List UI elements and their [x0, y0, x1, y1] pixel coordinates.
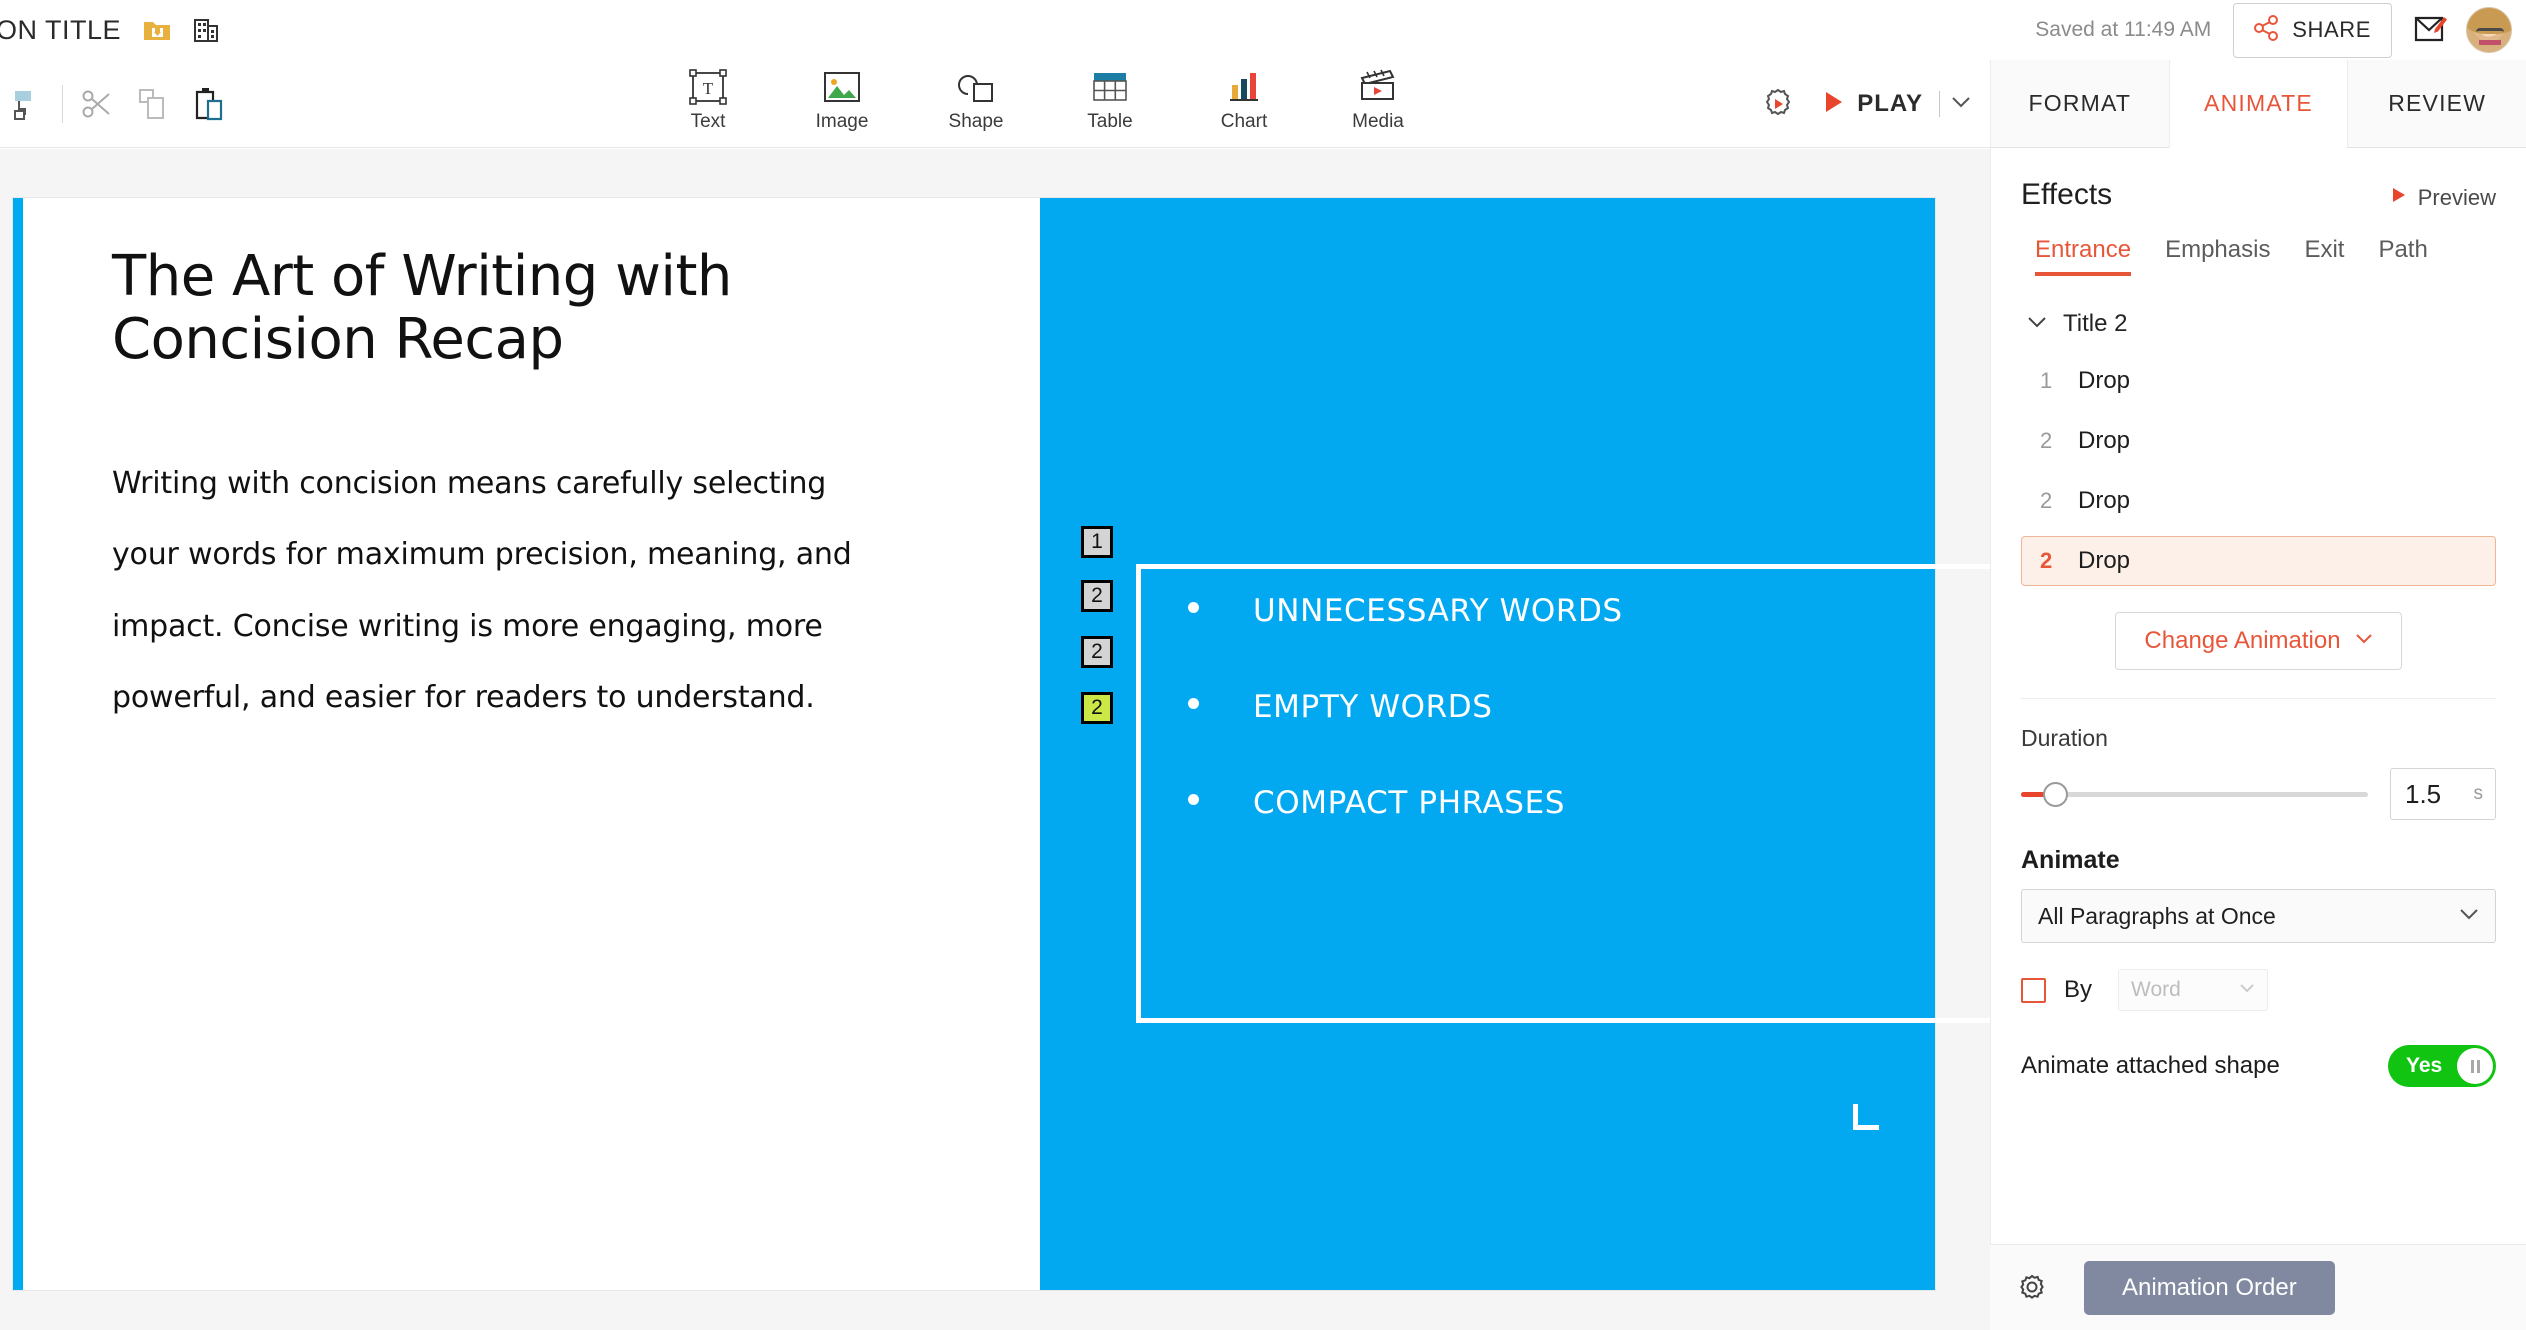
effect-name: Drop	[2078, 427, 2130, 455]
change-animation-label: Change Animation	[2144, 627, 2340, 655]
toolbar-divider	[62, 85, 63, 123]
tab-entrance[interactable]: Entrance	[2035, 236, 2131, 276]
effect-order-number: 2	[2040, 548, 2054, 574]
play-triangle-icon	[2391, 186, 2407, 209]
share-nodes-icon	[2254, 15, 2280, 46]
change-animation-wrap: Change Animation	[1991, 596, 2526, 670]
insert-media-button[interactable]: Media	[1330, 66, 1426, 133]
effect-order-number: 2	[2040, 488, 2054, 514]
insert-chart-button[interactable]: Chart	[1196, 66, 1292, 133]
effect-order-number: 1	[2040, 368, 2054, 394]
animate-mode-value: All Paragraphs at Once	[2038, 903, 2276, 930]
slide-accent-bar	[13, 198, 23, 1290]
bar-chart-icon	[1224, 66, 1264, 108]
toggle-knob	[2457, 1048, 2493, 1084]
paste-format-icon[interactable]	[0, 60, 56, 148]
effect-name: Drop	[2078, 547, 2130, 575]
paste-icon[interactable]	[181, 60, 237, 148]
chevron-down-icon[interactable]	[1940, 94, 1990, 115]
effect-item-selected[interactable]: 2 Drop	[2021, 536, 2496, 586]
effect-type-tabs: Entrance Emphasis Exit Path	[1991, 212, 2526, 276]
folder-download-icon[interactable]	[143, 18, 171, 42]
animation-badge[interactable]: 2	[1081, 580, 1113, 612]
svg-text:T: T	[703, 79, 714, 98]
panel-footer: Animation Order	[1990, 1244, 2526, 1330]
insert-text-label: Text	[691, 111, 726, 133]
tab-format[interactable]: FORMAT	[1990, 60, 2169, 148]
share-button[interactable]: SHARE	[2233, 3, 2392, 58]
effect-order-number: 2	[2040, 428, 2054, 454]
animate-by-row: By Word	[1991, 943, 2526, 1011]
gear-icon[interactable]	[2016, 1272, 2048, 1304]
animate-by-checkbox[interactable]	[2021, 978, 2046, 1003]
effects-title: Effects	[2021, 178, 2112, 212]
animate-attached-shape-label: Animate attached shape	[2021, 1052, 2280, 1080]
cut-icon[interactable]	[69, 60, 125, 148]
bullet-label: EMPTY WORDS	[1253, 689, 1493, 725]
table-icon	[1090, 66, 1130, 108]
play-triangle-icon	[1823, 90, 1845, 119]
document-title[interactable]: ION TITLE	[0, 15, 121, 46]
animation-badge[interactable]: 1	[1081, 526, 1113, 558]
bullet-label: COMPACT PHRASES	[1253, 785, 1565, 821]
animate-side-panel: Effects Preview Entrance Emphasis Exit P…	[1990, 148, 2526, 1330]
shape-icon	[955, 66, 997, 108]
slider-thumb[interactable]	[2043, 782, 2068, 807]
tab-path[interactable]: Path	[2378, 236, 2427, 276]
top-header: ION TITLE Saved at 11:49 AM	[0, 0, 2526, 60]
animate-attached-shape-row: Animate attached shape Yes	[1991, 1011, 2526, 1087]
ribbon-right-group: PLAY	[1739, 60, 1990, 148]
chevron-down-icon	[2355, 632, 2373, 650]
preview-button[interactable]: Preview	[2391, 185, 2496, 211]
animate-mode-select[interactable]: All Paragraphs at Once	[2021, 889, 2496, 943]
effect-item[interactable]: 2 Drop	[2021, 416, 2496, 466]
animation-badge[interactable]: 2	[1081, 636, 1113, 668]
knob-bar-icon	[2471, 1060, 2474, 1073]
slide-title[interactable]: The Art of Writing with Concision Recap	[112, 246, 912, 371]
effects-header: Effects Preview	[1991, 148, 2526, 212]
chevron-down-icon[interactable]	[2027, 315, 2047, 334]
animate-by-value: Word	[2131, 978, 2181, 1002]
animate-section-label: Animate	[1991, 820, 2526, 875]
gear-play-icon[interactable]	[1739, 87, 1817, 121]
insert-shape-label: Shape	[949, 111, 1004, 133]
building-icon[interactable]	[193, 17, 219, 43]
duration-input[interactable]: 1.5 s	[2390, 768, 2496, 820]
tab-animate[interactable]: ANIMATE	[2169, 60, 2348, 148]
slide-canvas-area: The Art of Writing with Concision Recap …	[0, 149, 1990, 1330]
effect-group-label: Title 2	[2063, 310, 2127, 338]
insert-tool-group: T Text Image	[660, 60, 1426, 148]
insert-media-label: Media	[1352, 111, 1404, 133]
insert-table-button[interactable]: Table	[1062, 66, 1158, 133]
chevron-down-icon	[2459, 907, 2479, 926]
duration-unit: s	[2474, 783, 2484, 805]
insert-table-label: Table	[1087, 111, 1132, 133]
copy-icon[interactable]	[125, 60, 181, 148]
animate-attached-shape-toggle[interactable]: Yes	[2388, 1045, 2496, 1087]
play-label: PLAY	[1857, 90, 1923, 118]
bullet-dot-icon	[1188, 602, 1199, 613]
bullet-dot-icon	[1188, 794, 1199, 805]
play-button[interactable]: PLAY	[1817, 90, 1933, 119]
chevron-down-icon	[2239, 981, 2255, 999]
duration-value: 1.5	[2405, 779, 2441, 810]
animation-order-button[interactable]: Animation Order	[2084, 1261, 2335, 1315]
effect-item[interactable]: 1 Drop	[2021, 356, 2496, 406]
animate-by-label: By	[2064, 976, 2092, 1004]
share-button-label: SHARE	[2292, 17, 2371, 43]
tab-emphasis[interactable]: Emphasis	[2165, 236, 2270, 276]
preview-label: Preview	[2418, 185, 2496, 211]
bullet-label: UNNECESSARY WORDS	[1253, 593, 1623, 629]
ribbon-toolbar: T Text Image	[0, 60, 1990, 148]
bullet-dot-icon	[1188, 698, 1199, 709]
effect-item[interactable]: 2 Drop	[2021, 476, 2496, 526]
effect-list: 1 Drop 2 Drop 2 Drop 2 Drop	[1991, 338, 2526, 586]
edit-pencil-icon[interactable]	[2414, 15, 2448, 45]
tab-exit[interactable]: Exit	[2304, 236, 2344, 276]
image-icon	[822, 66, 862, 108]
resize-corner-mark[interactable]	[1853, 1104, 1879, 1130]
list-item[interactable]: EMPTY WORDS	[1188, 689, 1948, 729]
slider-track	[2021, 792, 2368, 797]
duration-row: 1.5 s	[1991, 752, 2526, 820]
knob-bar-icon	[2477, 1060, 2480, 1073]
insert-image-label: Image	[816, 111, 869, 133]
avatar[interactable]	[2466, 7, 2512, 53]
saved-status: Saved at 11:49 AM	[2035, 18, 2211, 42]
effect-name: Drop	[2078, 487, 2130, 515]
toggle-value-label: Yes	[2406, 1054, 2442, 1078]
duration-slider[interactable]	[2021, 779, 2368, 809]
slide-body-text[interactable]: Writing with concision means carefully s…	[112, 448, 852, 734]
effect-name: Drop	[2078, 367, 2130, 395]
insert-chart-label: Chart	[1221, 111, 1267, 133]
panel-tab-bar: FORMAT ANIMATE REVIEW	[1990, 60, 2526, 148]
bullet-list[interactable]: UNNECESSARY WORDS EMPTY WORDS COMPACT PH…	[1188, 593, 1948, 881]
animation-badge-selected[interactable]: 2	[1081, 692, 1113, 724]
duration-label: Duration	[1991, 699, 2526, 752]
list-item[interactable]: UNNECESSARY WORDS	[1188, 593, 1948, 633]
clipboard-tool-group	[0, 60, 237, 148]
insert-text-button[interactable]: T Text	[660, 66, 756, 133]
tab-review[interactable]: REVIEW	[2347, 60, 2526, 148]
insert-image-button[interactable]: Image	[794, 66, 890, 133]
effect-group-title-2[interactable]: Title 2	[1991, 276, 2526, 338]
text-box-icon: T	[688, 66, 728, 108]
clapperboard-icon	[1357, 66, 1399, 108]
slide[interactable]: The Art of Writing with Concision Recap …	[13, 198, 1935, 1290]
header-right-group: Saved at 11:49 AM SHARE	[2035, 0, 2512, 60]
change-animation-button[interactable]: Change Animation	[2115, 612, 2401, 670]
list-item[interactable]: COMPACT PHRASES	[1188, 785, 1948, 825]
insert-shape-button[interactable]: Shape	[928, 66, 1024, 133]
app-root: ION TITLE Saved at 11:49 AM	[0, 0, 2526, 1330]
animate-by-select[interactable]: Word	[2118, 969, 2268, 1011]
